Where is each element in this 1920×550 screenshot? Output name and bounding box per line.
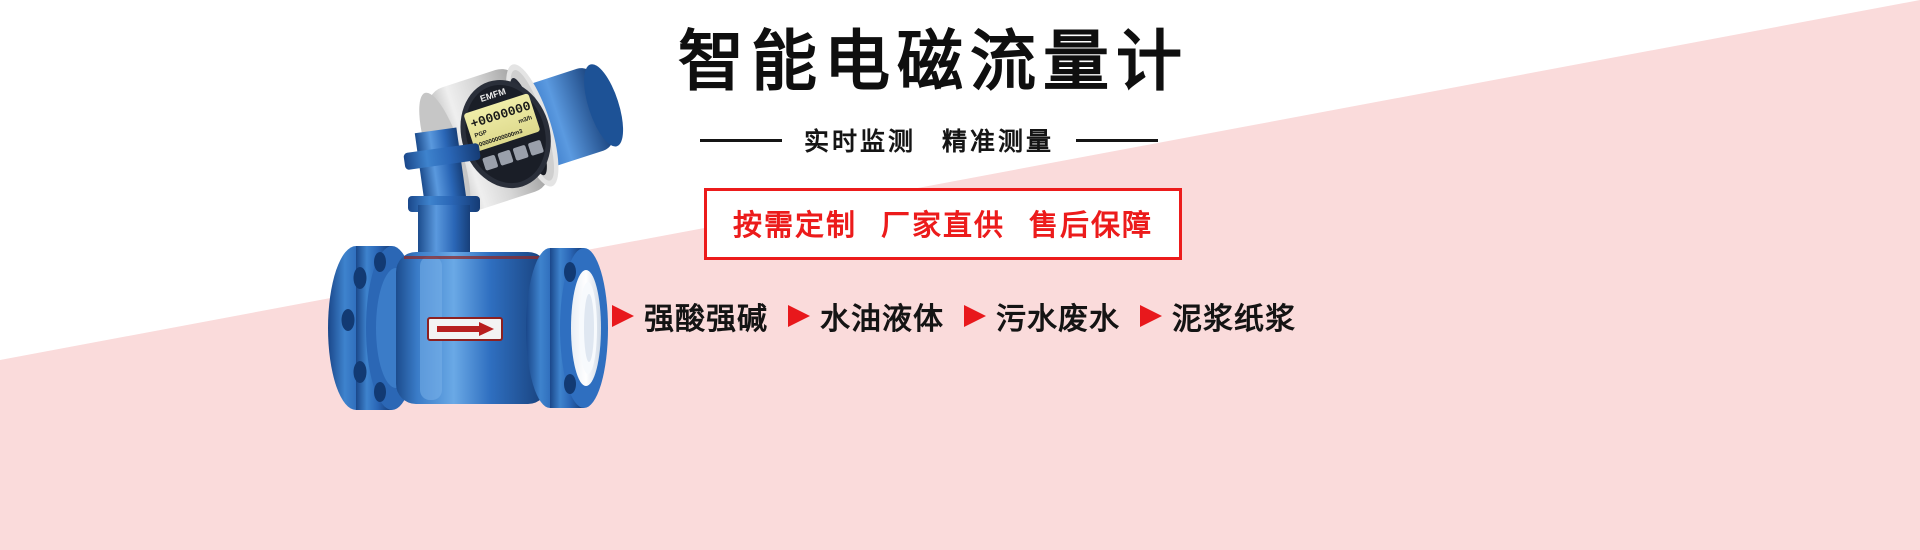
feature-label: 强酸强碱 — [644, 294, 768, 338]
flowmeter-illustration: EMFM +0000000 PGP m3/h +00000000000m3 — [300, 0, 660, 480]
rule-left — [700, 139, 782, 142]
feature-label: 泥浆纸浆 — [1172, 294, 1296, 338]
page-title: 智能电磁流量计 — [660, 28, 1860, 94]
arrow-right-icon — [612, 305, 634, 327]
feature-item: 泥浆纸浆 — [1140, 294, 1296, 338]
subtitle: 实时监测精准测量 — [804, 122, 1054, 158]
subtitle-left: 实时监测 — [804, 128, 916, 156]
subtitle-right: 精准测量 — [942, 128, 1054, 156]
arrow-right-icon — [788, 305, 810, 327]
arrow-right-icon — [964, 305, 986, 327]
right-flange — [526, 248, 608, 408]
badge-item-1: 按需定制 — [733, 210, 857, 242]
feature-item: 污水废水 — [964, 294, 1120, 338]
badge-item-3: 售后保障 — [1029, 210, 1153, 242]
arrow-right-icon — [1140, 305, 1162, 327]
guarantee-badge: 按需定制厂家直供售后保障 — [704, 188, 1182, 260]
feature-item: 水油液体 — [788, 294, 944, 338]
copy-column: 智能电磁流量计 实时监测精准测量 按需定制厂家直供售后保障 强酸强碱 水油液体 … — [660, 28, 1860, 448]
flow-direction-arrow — [428, 318, 502, 340]
badge-item-2: 厂家直供 — [881, 210, 1005, 242]
feature-list: 强酸强碱 水油液体 污水废水 泥浆纸浆 — [612, 294, 1860, 338]
feature-label: 污水废水 — [996, 294, 1120, 338]
rule-right — [1076, 139, 1158, 142]
subtitle-row: 实时监测精准测量 — [660, 122, 1860, 158]
guarantee-badge-text: 按需定制厂家直供售后保障 — [733, 210, 1153, 242]
feature-label: 水油液体 — [820, 294, 944, 338]
feature-item: 强酸强碱 — [612, 294, 768, 338]
promo-banner: EMFM +0000000 PGP m3/h +00000000000m3 — [0, 0, 1920, 550]
